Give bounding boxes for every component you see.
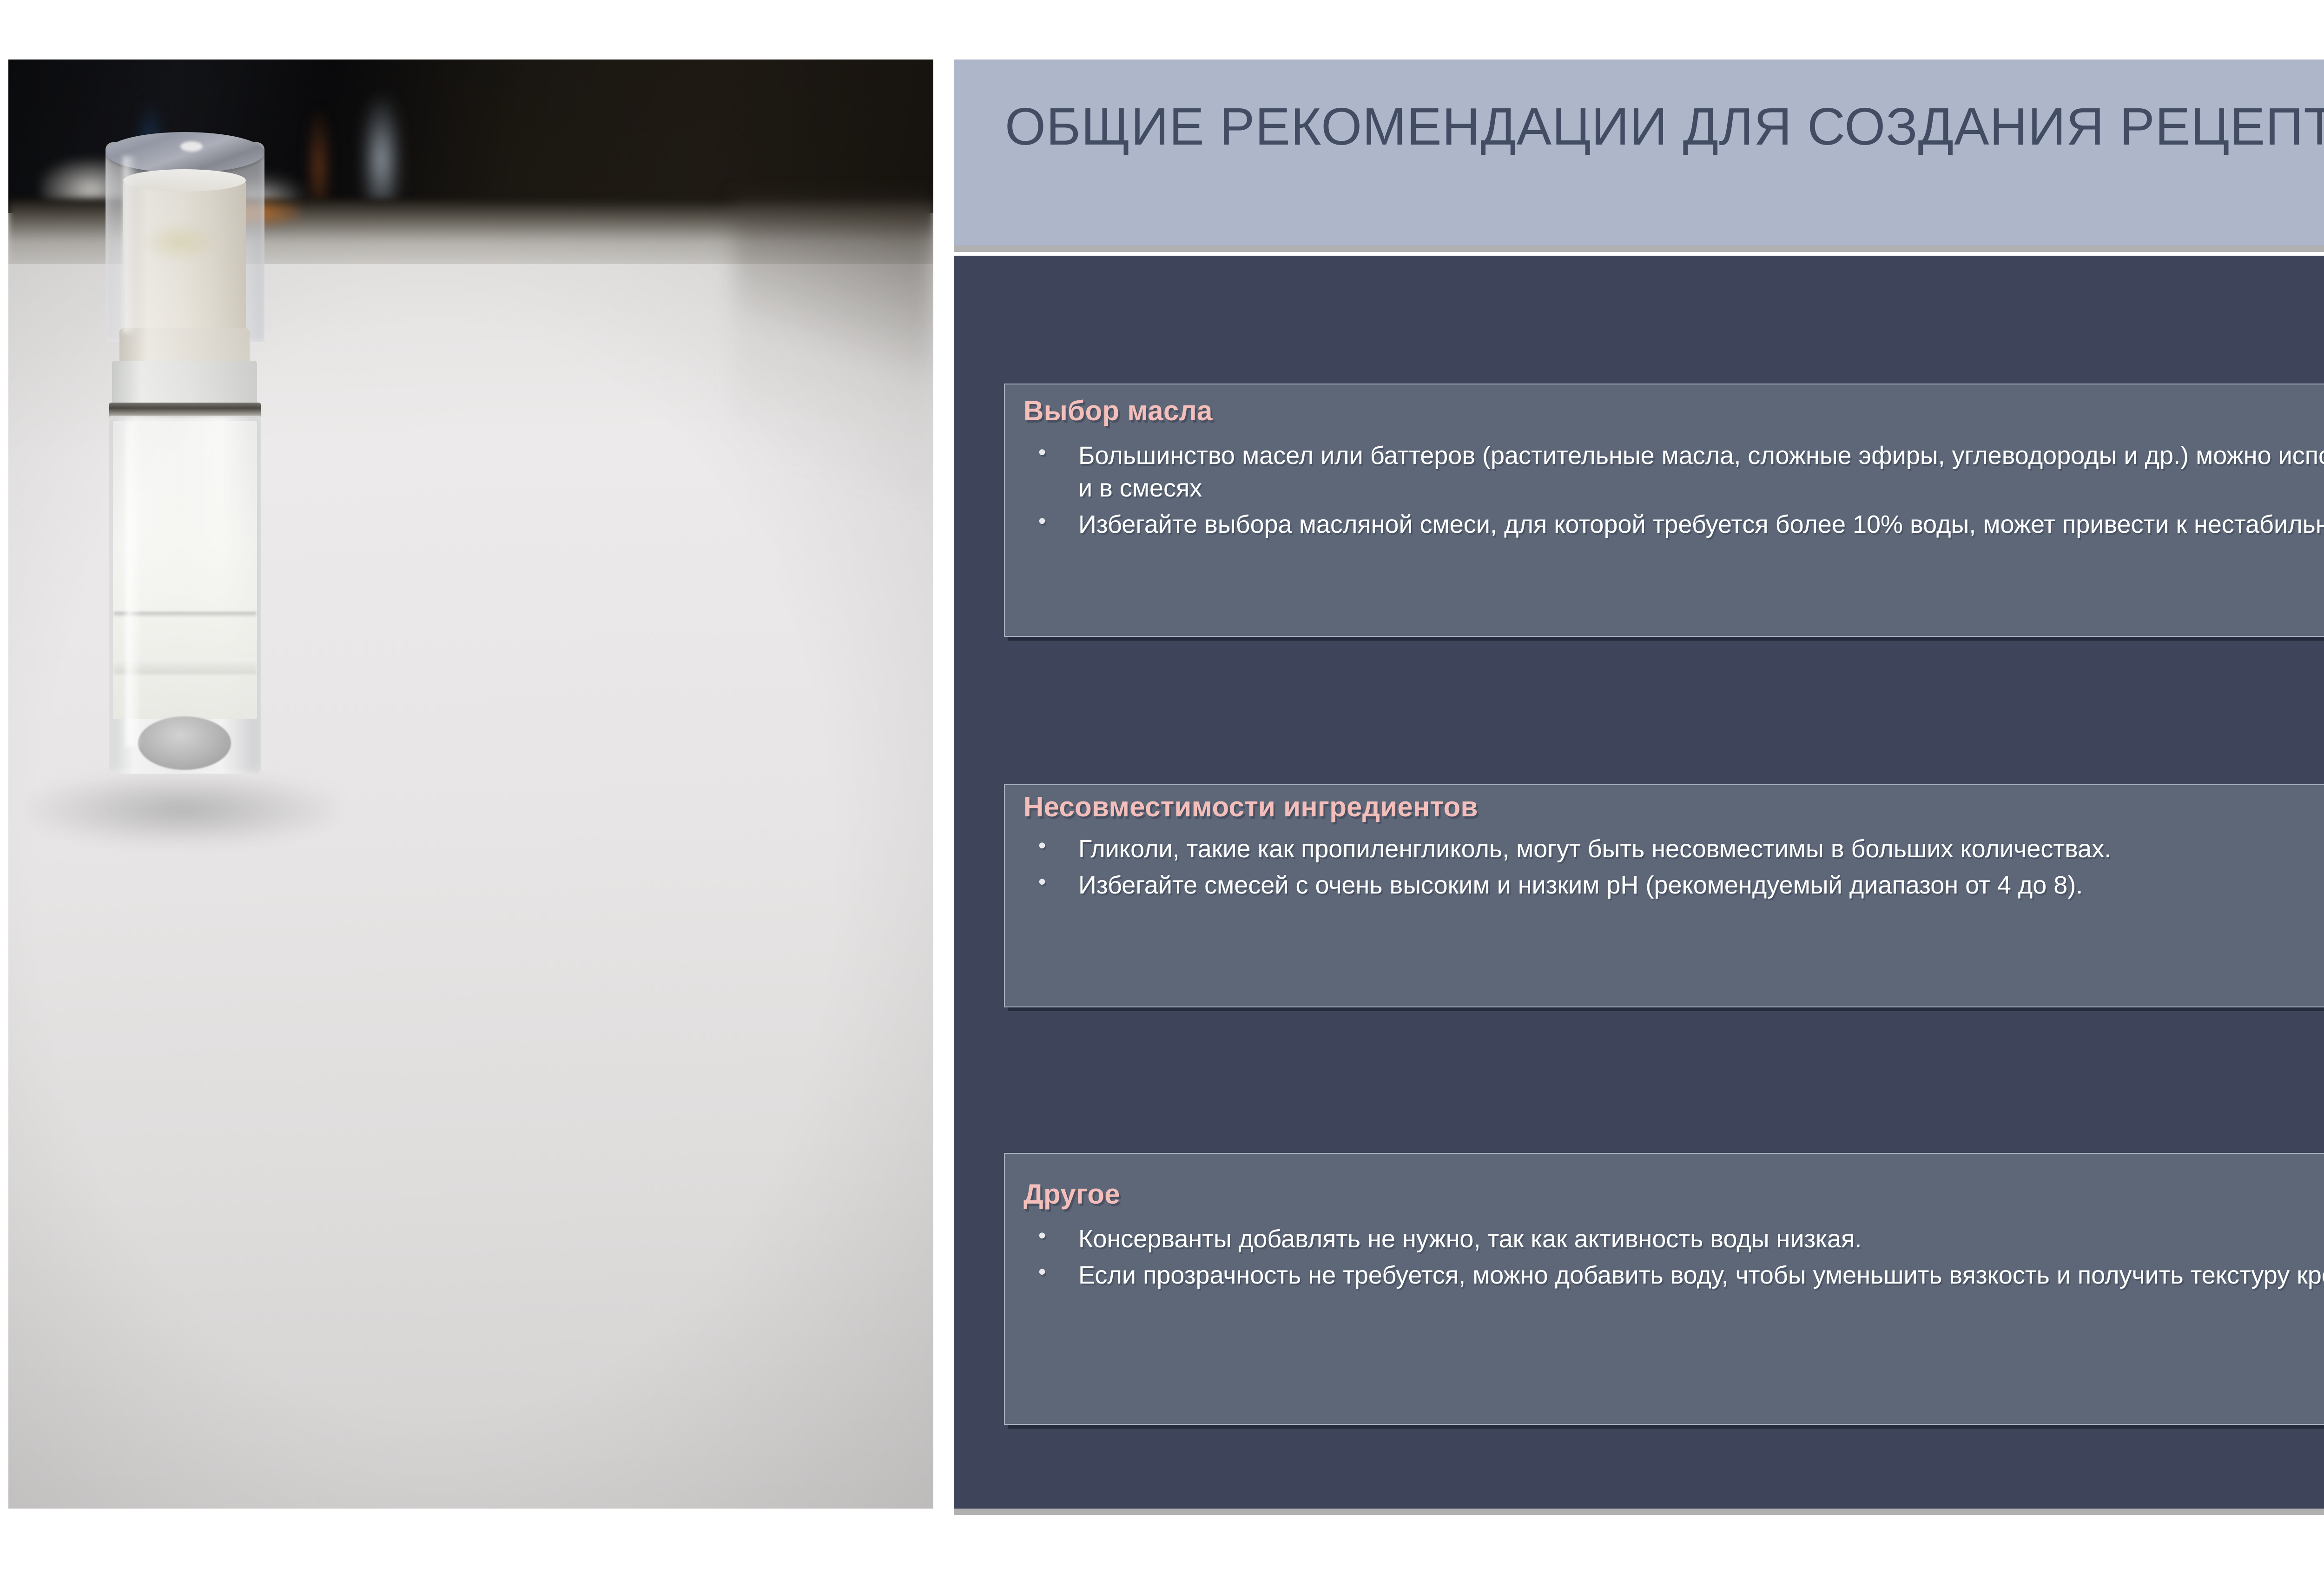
card-bullet-list: Консерванты добавлять не нужно, так как … <box>1022 1223 2324 1295</box>
card-heading: Другое <box>1023 1178 1120 1210</box>
card-other: Другое Консерванты добавлять не нужно, т… <box>1004 1153 2324 1425</box>
list-item: Гликоли, такие как пропиленгликоль, могу… <box>1022 833 2324 865</box>
list-item: Избегайте смесей с очень высоким и низки… <box>1022 869 2324 901</box>
photo-vignette <box>8 60 933 1509</box>
card-heading: Несовместимости ингредиентов <box>1023 791 1478 823</box>
card-bullet-list: Гликоли, такие как пропиленгликоль, могу… <box>1022 833 2324 905</box>
card-oil-selection: Выбор масла Большинство масел или баттер… <box>1004 384 2324 637</box>
page-title: ОБЩИЕ РЕКОМЕНДАЦИИ ДЛЯ СОЗДАНИЯ РЕЦЕПТУР <box>1005 95 2324 159</box>
list-item: Избегайте выбора масляной смеси, для кот… <box>1022 508 2324 541</box>
list-item: Консерванты добавлять не нужно, так как … <box>1022 1223 2324 1255</box>
list-item: Большинство масел или баттеров (растител… <box>1022 439 2324 504</box>
slide-title-bar: ОБЩИЕ РЕКОМЕНДАЦИИ ДЛЯ СОЗДАНИЯ РЕЦЕПТУР <box>954 60 2324 245</box>
card-bullet-list: Большинство масел или баттеров (растител… <box>1022 439 2324 545</box>
card-heading: Выбор масла <box>1023 395 1213 427</box>
card-ingredient-incompatibilities: Несовместимости ингредиентов Гликоли, та… <box>1004 784 2324 1007</box>
bottle-photo <box>8 60 933 1509</box>
list-item: Если прозрачность не требуется, можно до… <box>1022 1259 2324 1291</box>
content-panel: Выбор масла Большинство масел или баттер… <box>954 256 2324 1509</box>
